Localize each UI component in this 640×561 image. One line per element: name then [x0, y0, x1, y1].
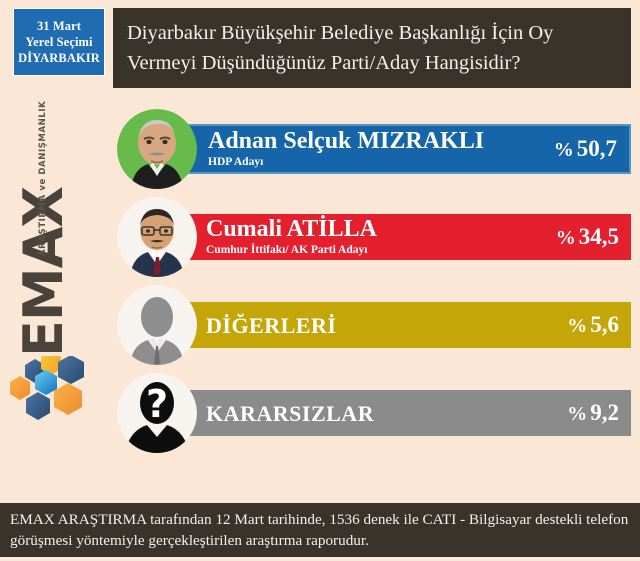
- result-labels: KARARSIZLAR: [206, 401, 501, 426]
- result-bar-kararsizlar: KARARSIZLAR %9,2: [150, 390, 631, 436]
- candidate-name: Cumali ATİLLA: [206, 217, 501, 242]
- result-percent: %34,5: [556, 224, 619, 250]
- badge-date: 31 Mart: [37, 18, 81, 34]
- result-percent: %9,2: [567, 400, 619, 426]
- result-percent: %50,7: [554, 136, 617, 162]
- percent-sign: %: [567, 315, 587, 337]
- footer-bar: EMAX ARAŞTIRMA tarafından 12 Mart tarihi…: [0, 503, 640, 557]
- badge-city: DİYARBAKIR: [18, 50, 100, 66]
- title-bar: Diyarbakır Büyükşehir Belediye Başkanlığ…: [113, 8, 631, 88]
- generic-person-icon: [117, 285, 197, 365]
- result-row: KARARSIZLAR %9,2 ?: [0, 368, 640, 456]
- candidate-name: Adnan Selçuk MIZRAKLI: [208, 129, 499, 154]
- percent-value: 5,6: [590, 312, 619, 337]
- result-bar-atilla: Cumali ATİLLA Cumhur İttifakı/ AK Parti …: [150, 214, 631, 260]
- candidate-party: HDP Adayı: [208, 155, 499, 169]
- percent-sign: %: [556, 227, 576, 249]
- candidate-name: KARARSIZLAR: [206, 401, 501, 426]
- result-labels: Adnan Selçuk MIZRAKLI HDP Adayı: [208, 129, 499, 169]
- result-labels: Cumali ATİLLA Cumhur İttifakı/ AK Parti …: [206, 217, 501, 257]
- result-row: Adnan Selçuk MIZRAKLI HDP Adayı %50,7: [0, 104, 640, 192]
- candidate-photo-mizrakli: [117, 109, 197, 189]
- methodology-note: EMAX ARAŞTIRMA tarafından 12 Mart tarihi…: [10, 509, 630, 551]
- results-list: Adnan Selçuk MIZRAKLI HDP Adayı %50,7: [0, 104, 640, 456]
- result-bar-digerleri: DİĞERLERİ %5,6: [150, 302, 631, 348]
- badge-election-type: Yerel Seçimi: [25, 34, 92, 50]
- result-labels: DİĞERLERİ: [206, 313, 501, 338]
- svg-text:?: ?: [146, 382, 168, 426]
- header: 31 Mart Yerel Seçimi DİYARBAKIR Diyarbak…: [0, 0, 640, 98]
- page-title: Diyarbakır Büyükşehir Belediye Başkanlığ…: [127, 18, 619, 78]
- percent-sign: %: [554, 139, 574, 161]
- candidate-name: DİĞERLERİ: [206, 313, 501, 338]
- percent-sign: %: [567, 403, 587, 425]
- election-badge: 31 Mart Yerel Seçimi DİYARBAKIR: [13, 8, 105, 76]
- percent-value: 50,7: [577, 136, 617, 161]
- candidate-party: Cumhur İttifakı/ AK Parti Adayı: [206, 243, 501, 257]
- question-mark-person-icon: ?: [117, 373, 197, 453]
- percent-value: 9,2: [590, 400, 619, 425]
- result-bar-mizrakli: Adnan Selçuk MIZRAKLI HDP Adayı %50,7: [150, 124, 631, 174]
- result-row: DİĞERLERİ %5,6: [0, 280, 640, 368]
- result-row: Cumali ATİLLA Cumhur İttifakı/ AK Parti …: [0, 192, 640, 280]
- result-percent: %5,6: [567, 312, 619, 338]
- percent-value: 34,5: [579, 224, 619, 249]
- candidate-photo-atilla: [117, 197, 197, 277]
